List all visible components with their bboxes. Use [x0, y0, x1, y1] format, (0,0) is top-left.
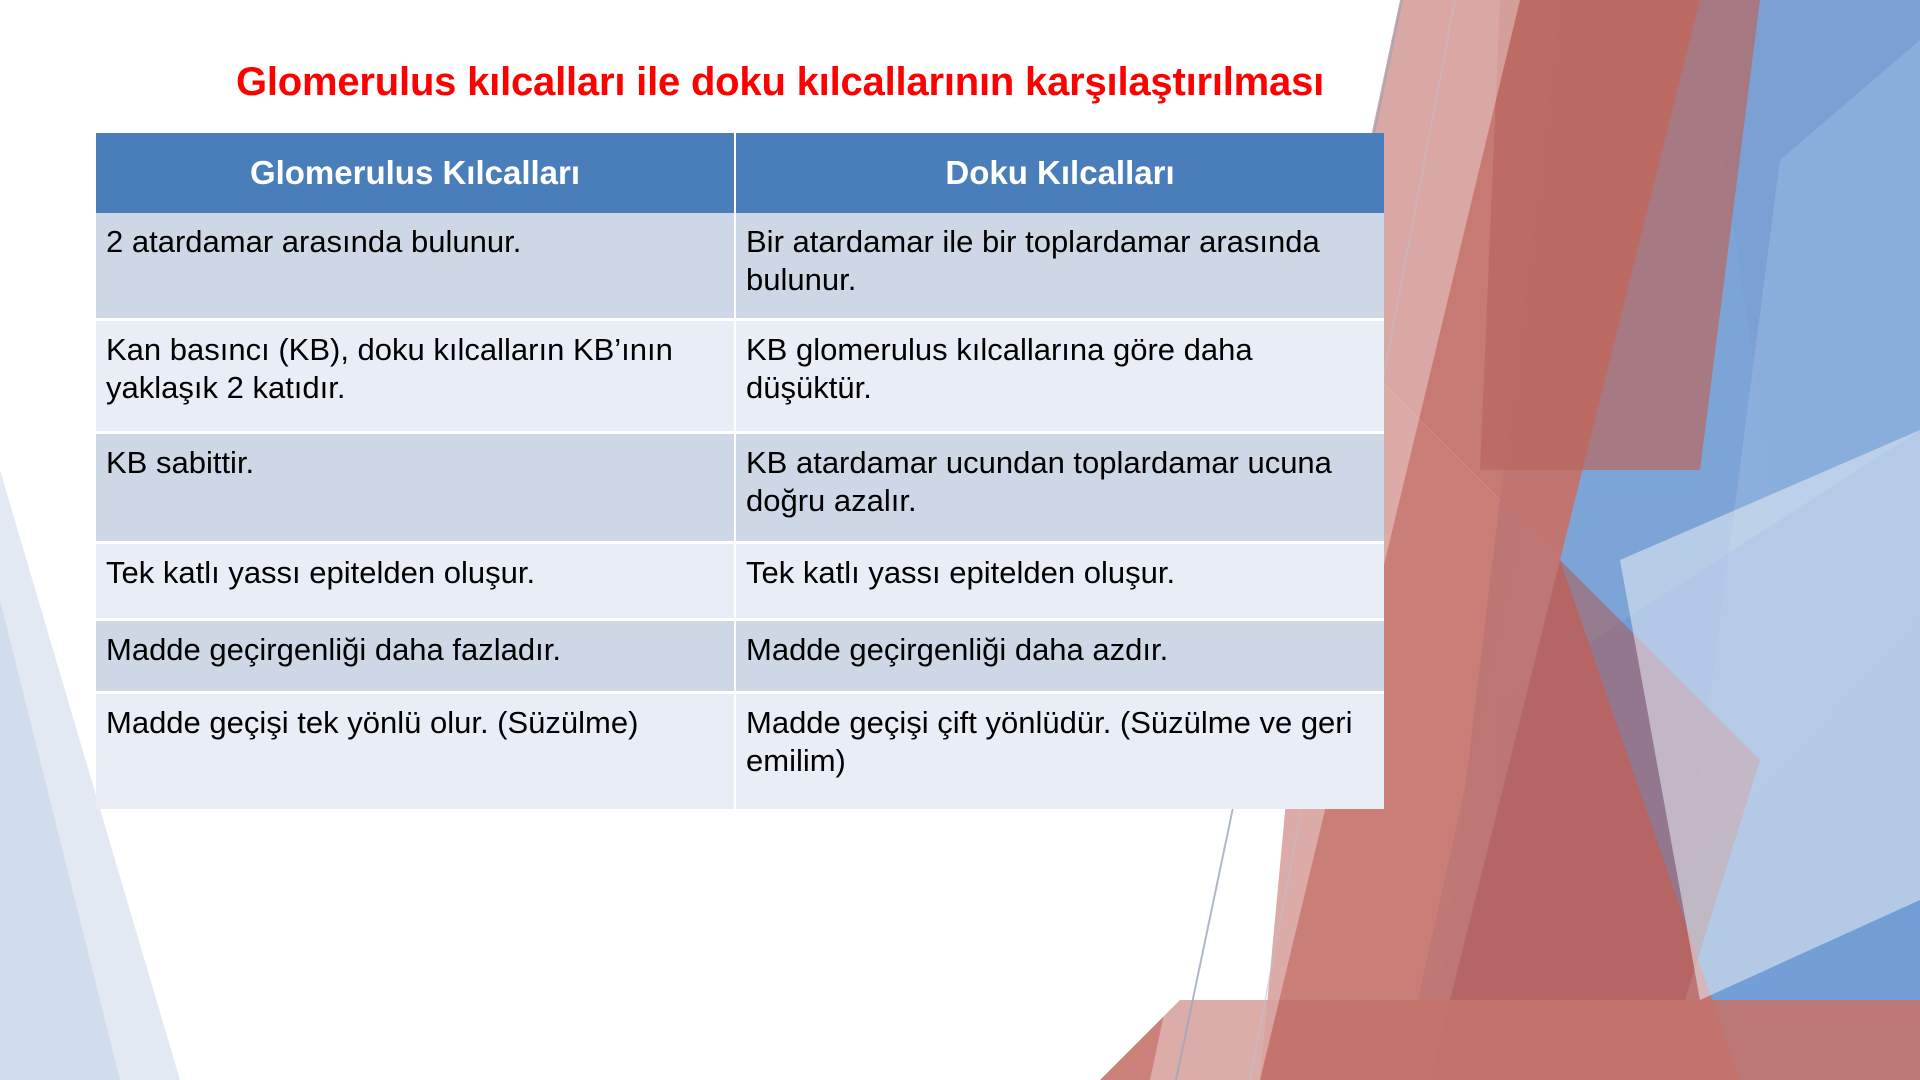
- background-shape-blue-5: [1480, 430, 1920, 1080]
- background-shape-red-5: [1100, 1000, 1920, 1080]
- table-row: KB sabittir. KB atardamar ucundan toplar…: [96, 434, 1384, 544]
- table-row: 2 atardamar arasında bulunur. Bir atarda…: [96, 213, 1384, 321]
- cell-doku: Madde geçirgenliği daha azdır.: [736, 621, 1384, 694]
- presentation-slide: Glomerulus kılcalları ile doku kılcallar…: [0, 0, 1920, 1080]
- background-shape-pale-1: [1620, 430, 1920, 1000]
- cell-glomerulus: Madde geçirgenliği daha fazladır.: [96, 621, 736, 694]
- table-body: 2 atardamar arasında bulunur. Bir atarda…: [96, 213, 1384, 809]
- column-header-glomerulus: Glomerulus Kılcalları: [96, 133, 736, 213]
- comparison-table-container: Glomerulus Kılcalları Doku Kılcalları 2 …: [96, 133, 1384, 809]
- cell-glomerulus: Tek katlı yassı epitelden oluşur.: [96, 544, 736, 621]
- cell-doku: Bir atardamar ile bir toplardamar arasın…: [736, 213, 1384, 321]
- cell-doku: KB glomerulus kılcallarına göre daha düş…: [736, 321, 1384, 434]
- background-shape-blue-3: [1400, 0, 1920, 1080]
- table-header: Glomerulus Kılcalları Doku Kılcalları: [96, 133, 1384, 213]
- cell-doku: Madde geçişi çift yönlüdür. (Süzülme ve …: [736, 694, 1384, 809]
- cell-glomerulus: Kan basıncı (KB), doku kılcalların KB’ın…: [96, 321, 736, 434]
- background-shape-blue-1: [1430, 0, 1920, 1080]
- table-row: Tek katlı yassı epitelden oluşur. Tek ka…: [96, 544, 1384, 621]
- background-shape-red-4: [1430, 560, 1760, 1080]
- cell-glomerulus: 2 atardamar arasında bulunur.: [96, 213, 736, 321]
- table-row: Kan basıncı (KB), doku kılcalların KB’ın…: [96, 321, 1384, 434]
- table-row: Madde geçişi tek yönlü olur. (Süzülme) M…: [96, 694, 1384, 809]
- table-header-row: Glomerulus Kılcalları Doku Kılcalları: [96, 133, 1384, 213]
- cell-doku: Tek katlı yassı epitelden oluşur.: [736, 544, 1384, 621]
- column-header-doku: Doku Kılcalları: [736, 133, 1384, 213]
- slide-title: Glomerulus kılcalları ile doku kılcallar…: [0, 60, 1560, 104]
- cell-glomerulus: KB sabittir.: [96, 434, 736, 544]
- background-shape-blue-4: [1660, 40, 1920, 1080]
- comparison-table: Glomerulus Kılcalları Doku Kılcalları 2 …: [96, 133, 1384, 809]
- cell-glomerulus: Madde geçişi tek yönlü olur. (Süzülme): [96, 694, 736, 809]
- cell-doku: KB atardamar ucundan toplardamar ucuna d…: [736, 434, 1384, 544]
- background-shape-blue-2: [1700, 0, 1920, 1080]
- table-row: Madde geçirgenliği daha fazladır. Madde …: [96, 621, 1384, 694]
